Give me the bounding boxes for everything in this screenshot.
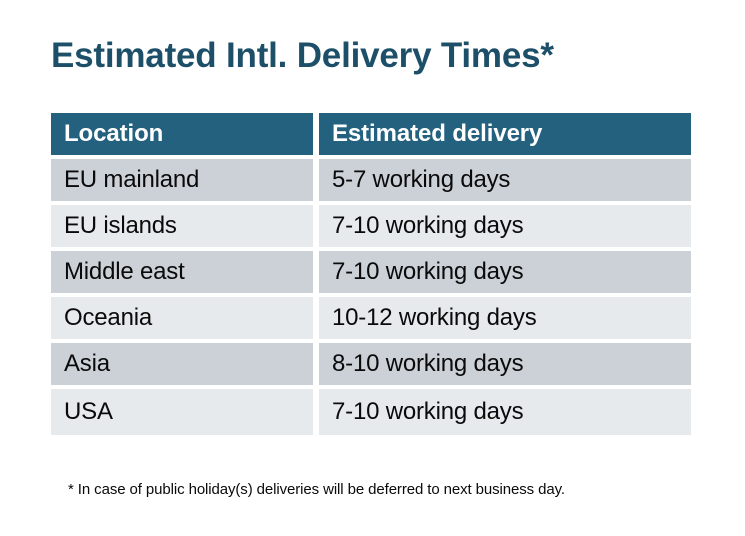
cell-location: EU islands [51, 205, 319, 251]
cell-estimated-delivery: 5-7 working days [319, 159, 691, 205]
table-row: USA 7-10 working days [51, 389, 691, 435]
table-row: EU mainland 5-7 working days [51, 159, 691, 205]
footnote: * In case of public holiday(s) deliverie… [68, 480, 565, 500]
cell-location: Oceania [51, 297, 319, 343]
cell-location: USA [51, 389, 319, 435]
table-body: EU mainland 5-7 working days EU islands … [51, 159, 691, 435]
cell-estimated-delivery: 7-10 working days [319, 205, 691, 251]
page-title: Estimated Intl. Delivery Times* [51, 34, 554, 78]
cell-location: Middle east [51, 251, 319, 297]
delivery-times-card: Estimated Intl. Delivery Times* Location… [0, 0, 745, 536]
table-header: Location Estimated delivery [51, 113, 691, 159]
cell-estimated-delivery: 7-10 working days [319, 251, 691, 297]
column-header-estimated-delivery: Estimated delivery [319, 113, 691, 159]
cell-location: EU mainland [51, 159, 319, 205]
estimated-delivery-table: Location Estimated delivery EU mainland … [51, 113, 691, 435]
column-header-location: Location [51, 113, 319, 159]
cell-estimated-delivery: 8-10 working days [319, 343, 691, 389]
table-header-row: Location Estimated delivery [51, 113, 691, 159]
table-row: Oceania 10-12 working days [51, 297, 691, 343]
table-row: Asia 8-10 working days [51, 343, 691, 389]
cell-estimated-delivery: 10-12 working days [319, 297, 691, 343]
table-row: EU islands 7-10 working days [51, 205, 691, 251]
table-row: Middle east 7-10 working days [51, 251, 691, 297]
cell-estimated-delivery: 7-10 working days [319, 389, 691, 435]
cell-location: Asia [51, 343, 319, 389]
